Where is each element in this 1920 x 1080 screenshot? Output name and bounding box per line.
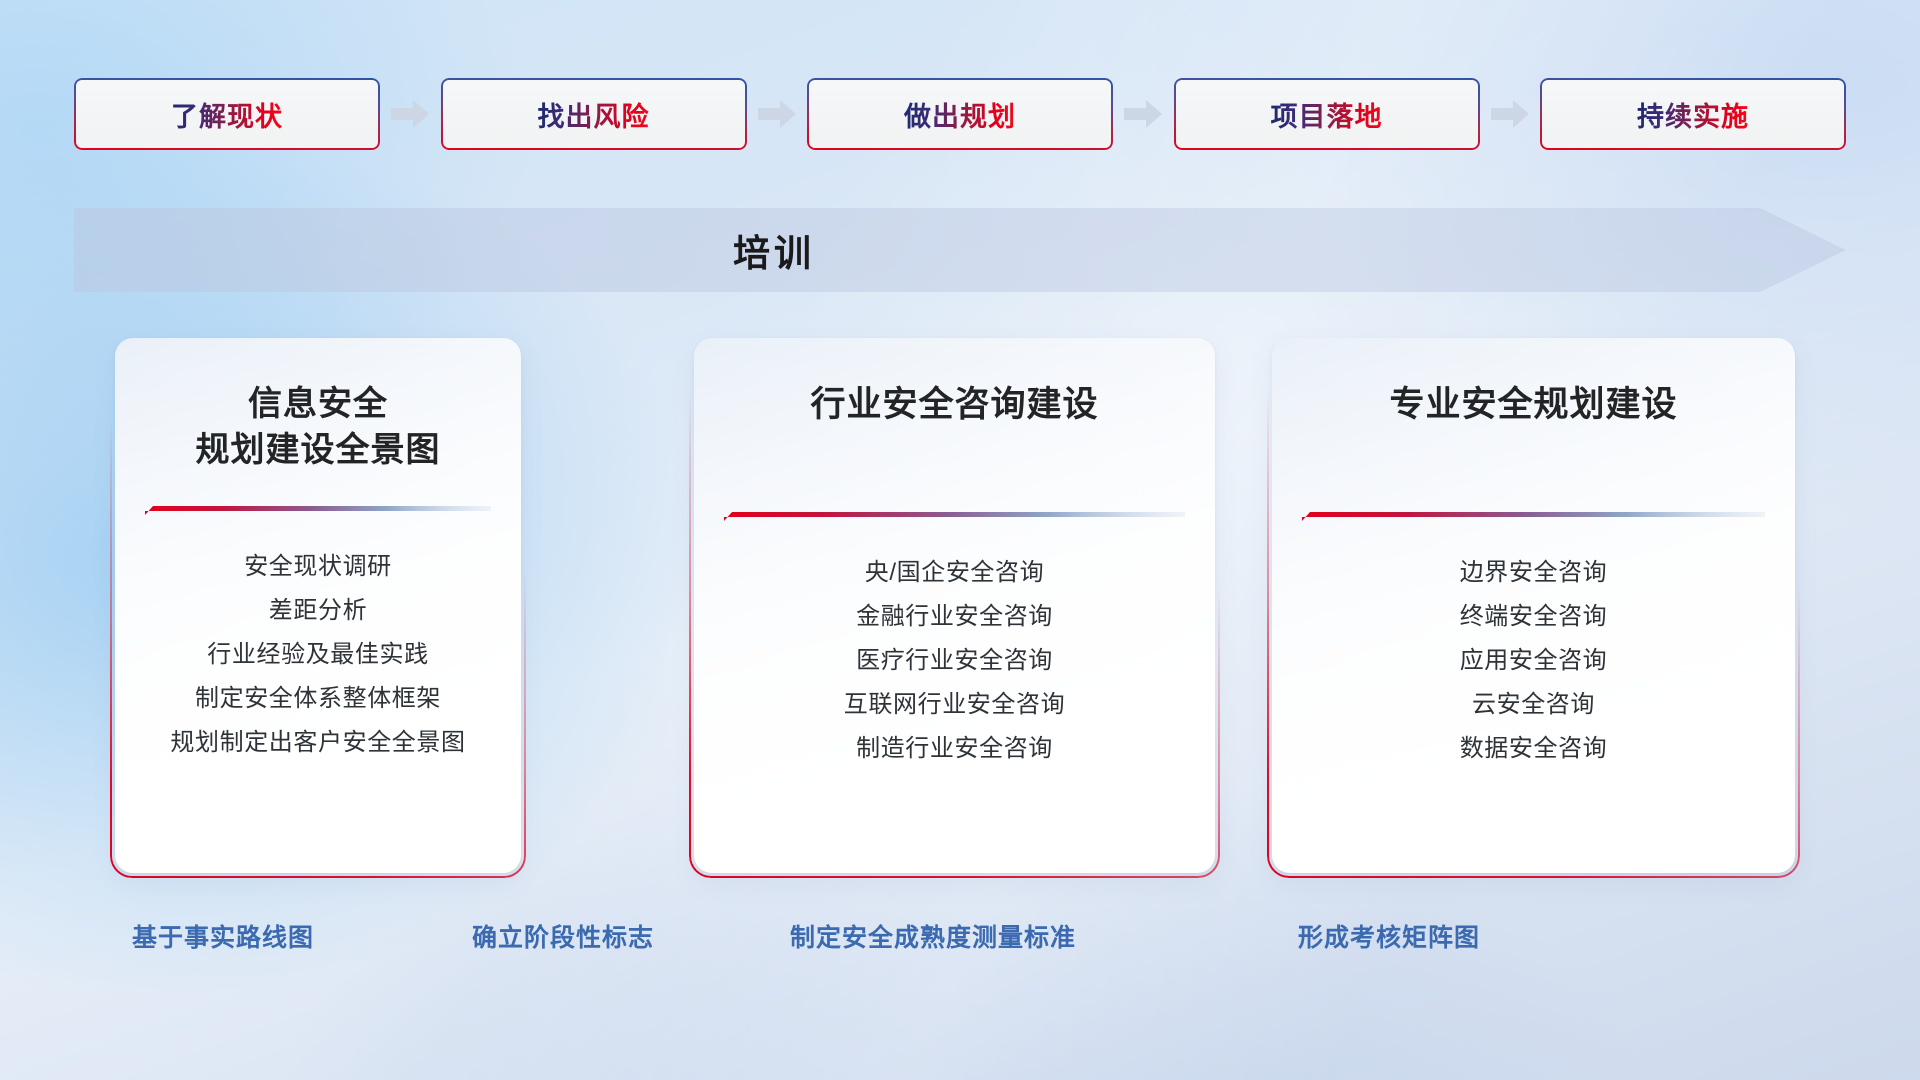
step-label-1: 了解现状 bbox=[171, 95, 283, 134]
red-gradient-divider bbox=[1302, 509, 1765, 525]
step-label-5: 持续实施 bbox=[1637, 95, 1749, 134]
list-item: 行业经验及最佳实践 bbox=[145, 633, 491, 677]
card-item-list: 央/国企安全咨询 金融行业安全咨询 医疗行业安全咨询 互联网行业安全咨询 制造行… bbox=[724, 551, 1185, 771]
list-item: 云安全咨询 bbox=[1302, 683, 1765, 727]
card-title: 信息安全 规划建设全景图 bbox=[145, 382, 491, 473]
list-item: 央/国企安全咨询 bbox=[724, 551, 1185, 595]
step-box-4[interactable]: 项目落地 bbox=[1174, 78, 1480, 150]
caption-maturity-metrics: 制定安全成熟度测量标准 bbox=[790, 918, 1076, 954]
chevron-right-arrow-icon bbox=[391, 100, 429, 128]
card-item-list: 安全现状调研 差距分析 行业经验及最佳实践 制定安全体系整体框架 规划制定出客户… bbox=[145, 545, 491, 765]
red-gradient-divider bbox=[724, 509, 1185, 525]
card-professional-security-planning[interactable]: 专业安全规划建设 边界安全咨询 bbox=[1272, 338, 1795, 873]
card-item-list: 边界安全咨询 终端安全咨询 应用安全咨询 云安全咨询 数据安全咨询 bbox=[1302, 551, 1765, 771]
slide-canvas: 了解现状 找出风险 做出规划 bbox=[0, 0, 1920, 1080]
list-item: 医疗行业安全咨询 bbox=[724, 639, 1185, 683]
chevron-right-arrow-icon bbox=[1124, 100, 1162, 128]
caption-roadmap: 基于事实路线图 bbox=[132, 918, 314, 954]
card-information-security-blueprint[interactable]: 信息安全 规划建设全景图 安全现状调研 bbox=[115, 338, 521, 873]
chevron-right-arrow-icon bbox=[758, 100, 796, 128]
caption-row: 基于事实路线图 确立阶段性标志 制定安全成熟度测量标准 形成考核矩阵图 bbox=[0, 918, 1920, 966]
list-item: 金融行业安全咨询 bbox=[724, 595, 1185, 639]
step-label-4: 项目落地 bbox=[1271, 95, 1383, 134]
list-item: 数据安全咨询 bbox=[1302, 727, 1765, 771]
process-step-row: 了解现状 找出风险 做出规划 bbox=[74, 78, 1846, 150]
step-separator-2 bbox=[747, 100, 808, 128]
list-item: 差距分析 bbox=[145, 589, 491, 633]
list-item: 制定安全体系整体框架 bbox=[145, 677, 491, 721]
list-item: 制造行业安全咨询 bbox=[724, 727, 1185, 771]
card-title: 行业安全咨询建设 bbox=[724, 382, 1185, 429]
step-label-2: 找出风险 bbox=[538, 95, 650, 134]
list-item: 规划制定出客户安全全景图 bbox=[145, 721, 491, 765]
step-box-2[interactable]: 找出风险 bbox=[441, 78, 747, 150]
step-separator-1 bbox=[380, 100, 441, 128]
red-gradient-divider bbox=[145, 503, 491, 519]
list-item: 应用安全咨询 bbox=[1302, 639, 1765, 683]
band-title: 培训 bbox=[74, 208, 1474, 292]
step-separator-4 bbox=[1480, 100, 1541, 128]
caption-assessment-matrix: 形成考核矩阵图 bbox=[1298, 918, 1480, 954]
list-item: 边界安全咨询 bbox=[1302, 551, 1765, 595]
step-box-1[interactable]: 了解现状 bbox=[74, 78, 380, 150]
list-item: 安全现状调研 bbox=[145, 545, 491, 589]
step-box-3[interactable]: 做出规划 bbox=[807, 78, 1113, 150]
list-item: 互联网行业安全咨询 bbox=[724, 683, 1185, 727]
caption-milestones: 确立阶段性标志 bbox=[472, 918, 654, 954]
card-industry-security-consulting[interactable]: 行业安全咨询建设 央/国企安全咨询 bbox=[694, 338, 1215, 873]
training-arrow-band: 培训 bbox=[74, 208, 1846, 292]
step-separator-3 bbox=[1113, 100, 1174, 128]
step-label-3: 做出规划 bbox=[904, 95, 1016, 134]
card-row: 信息安全 规划建设全景图 安全现状调研 bbox=[0, 338, 1920, 873]
step-box-5[interactable]: 持续实施 bbox=[1540, 78, 1846, 150]
card-title: 专业安全规划建设 bbox=[1302, 382, 1765, 429]
chevron-right-arrow-icon bbox=[1491, 100, 1529, 128]
list-item: 终端安全咨询 bbox=[1302, 595, 1765, 639]
